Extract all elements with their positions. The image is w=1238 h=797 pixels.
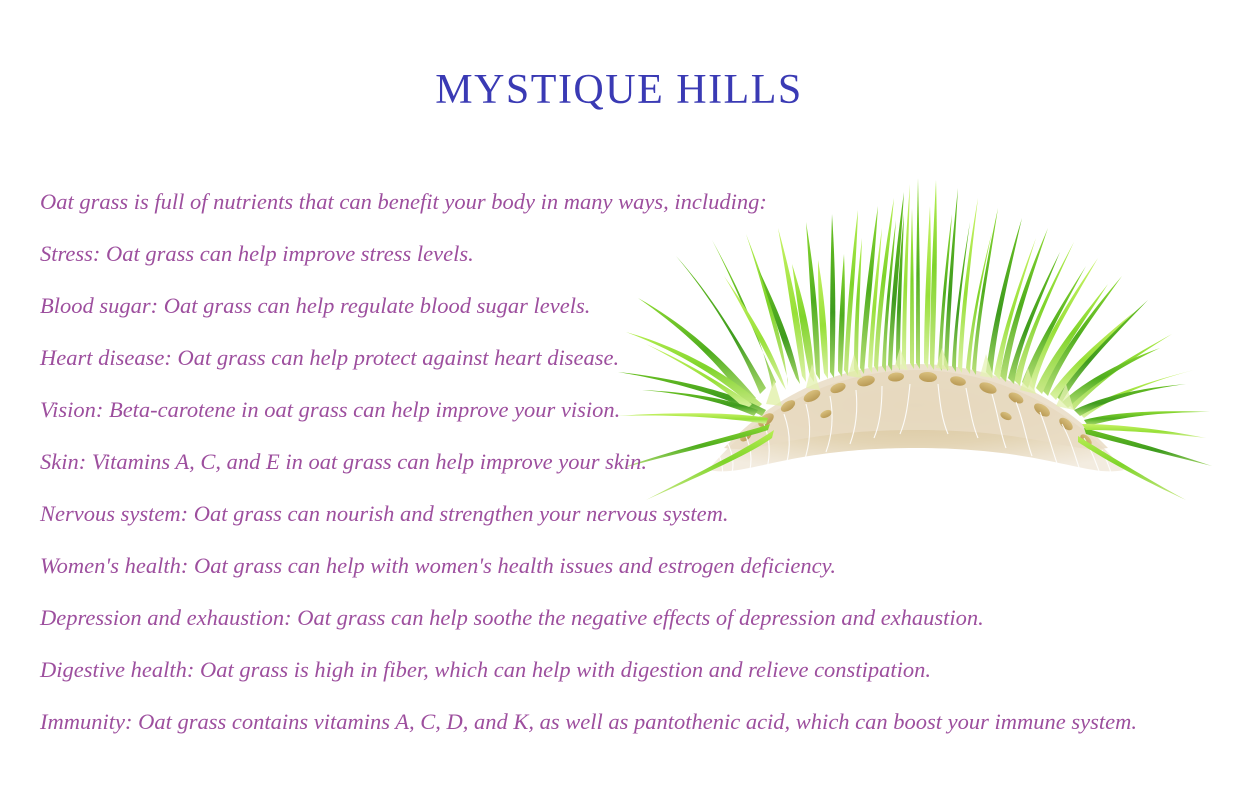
poster-page: MYSTIQUE HILLS xyxy=(0,0,1238,797)
body-line: Depression and exhaustion: Oat grass can… xyxy=(40,592,1220,644)
body-line: Immunity: Oat grass contains vitamins A,… xyxy=(40,696,1220,748)
page-title: MYSTIQUE HILLS xyxy=(0,68,1238,112)
body-line: Nervous system: Oat grass can nourish an… xyxy=(40,488,1220,540)
body-line: Digestive health: Oat grass is high in f… xyxy=(40,644,1220,696)
body-line: Heart disease: Oat grass can help protec… xyxy=(40,332,1220,384)
body-line: Skin: Vitamins A, C, and E in oat grass … xyxy=(40,436,1220,488)
body-line: Women's health: Oat grass can help with … xyxy=(40,540,1220,592)
body-line: Stress: Oat grass can help improve stres… xyxy=(40,228,1220,280)
body-text-block: Oat grass is full of nutrients that can … xyxy=(40,176,1220,748)
body-line: Vision: Beta-carotene in oat grass can h… xyxy=(40,384,1220,436)
body-line: Blood sugar: Oat grass can help regulate… xyxy=(40,280,1220,332)
body-line: Oat grass is full of nutrients that can … xyxy=(40,176,1220,228)
